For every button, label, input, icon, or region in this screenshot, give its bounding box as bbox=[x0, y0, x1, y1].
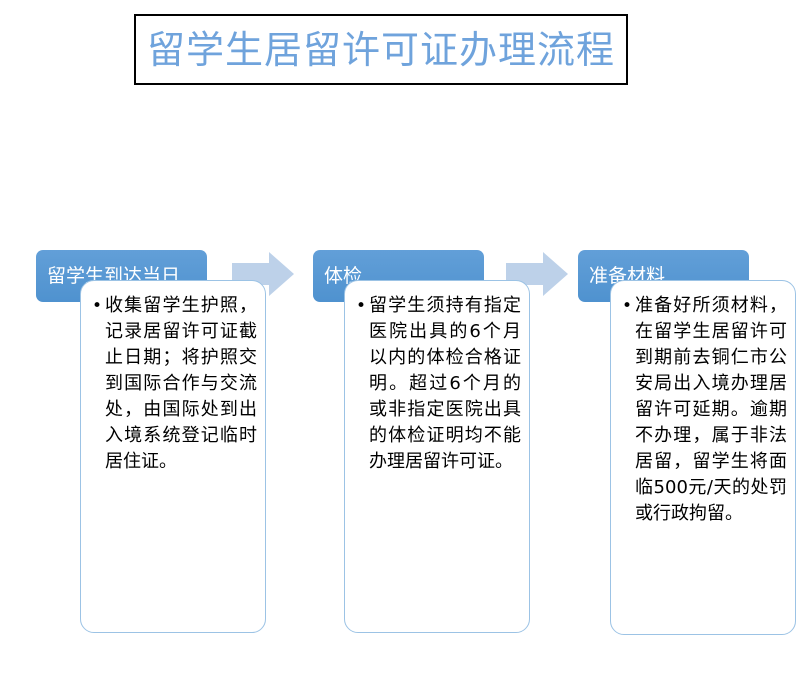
flow-step-1-bullet-text: 收集留学生护照，记录居留许可证截止日期；将护照交到国际合作与交流处，由国际处到出… bbox=[105, 293, 257, 475]
flow-step-3-bullet-text: 准备好所须材料，在留学生居留许可到期前去铜仁市公安局出入境办理居留许可延期。逾期… bbox=[635, 293, 787, 527]
flow-step-1-body: • 收集留学生护照，记录居留许可证截止日期；将护照交到国际合作与交流处，由国际处… bbox=[80, 280, 266, 633]
flow-step-3-bullet-item: • 准备好所须材料，在留学生居留许可到期前去铜仁市公安局出入境办理居留许可延期。… bbox=[622, 293, 787, 527]
flow-step-2-body: • 留学生须持有指定医院出具的6个月以内的体检合格证明。超过6个月的或非指定医院… bbox=[344, 280, 530, 633]
flow-step-3-body: • 准备好所须材料，在留学生居留许可到期前去铜仁市公安局出入境办理居留许可延期。… bbox=[610, 280, 796, 635]
bullet-point-icon: • bbox=[92, 293, 102, 319]
bullet-point-icon: • bbox=[622, 293, 632, 319]
flow-step-2-bullet-text: 留学生须持有指定医院出具的6个月以内的体检合格证明。超过6个月的或非指定医院出具… bbox=[369, 293, 521, 475]
flow-step-1-bullet-item: • 收集留学生护照，记录居留许可证截止日期；将护照交到国际合作与交流处，由国际处… bbox=[92, 293, 257, 475]
process-flow-diagram: 留学生到达当日 • 收集留学生护照，记录居留许可证截止日期；将护照交到国际合作与… bbox=[0, 0, 805, 698]
flow-step-2-bullet-item: • 留学生须持有指定医院出具的6个月以内的体检合格证明。超过6个月的或非指定医院… bbox=[356, 293, 521, 475]
bullet-point-icon: • bbox=[356, 293, 366, 319]
